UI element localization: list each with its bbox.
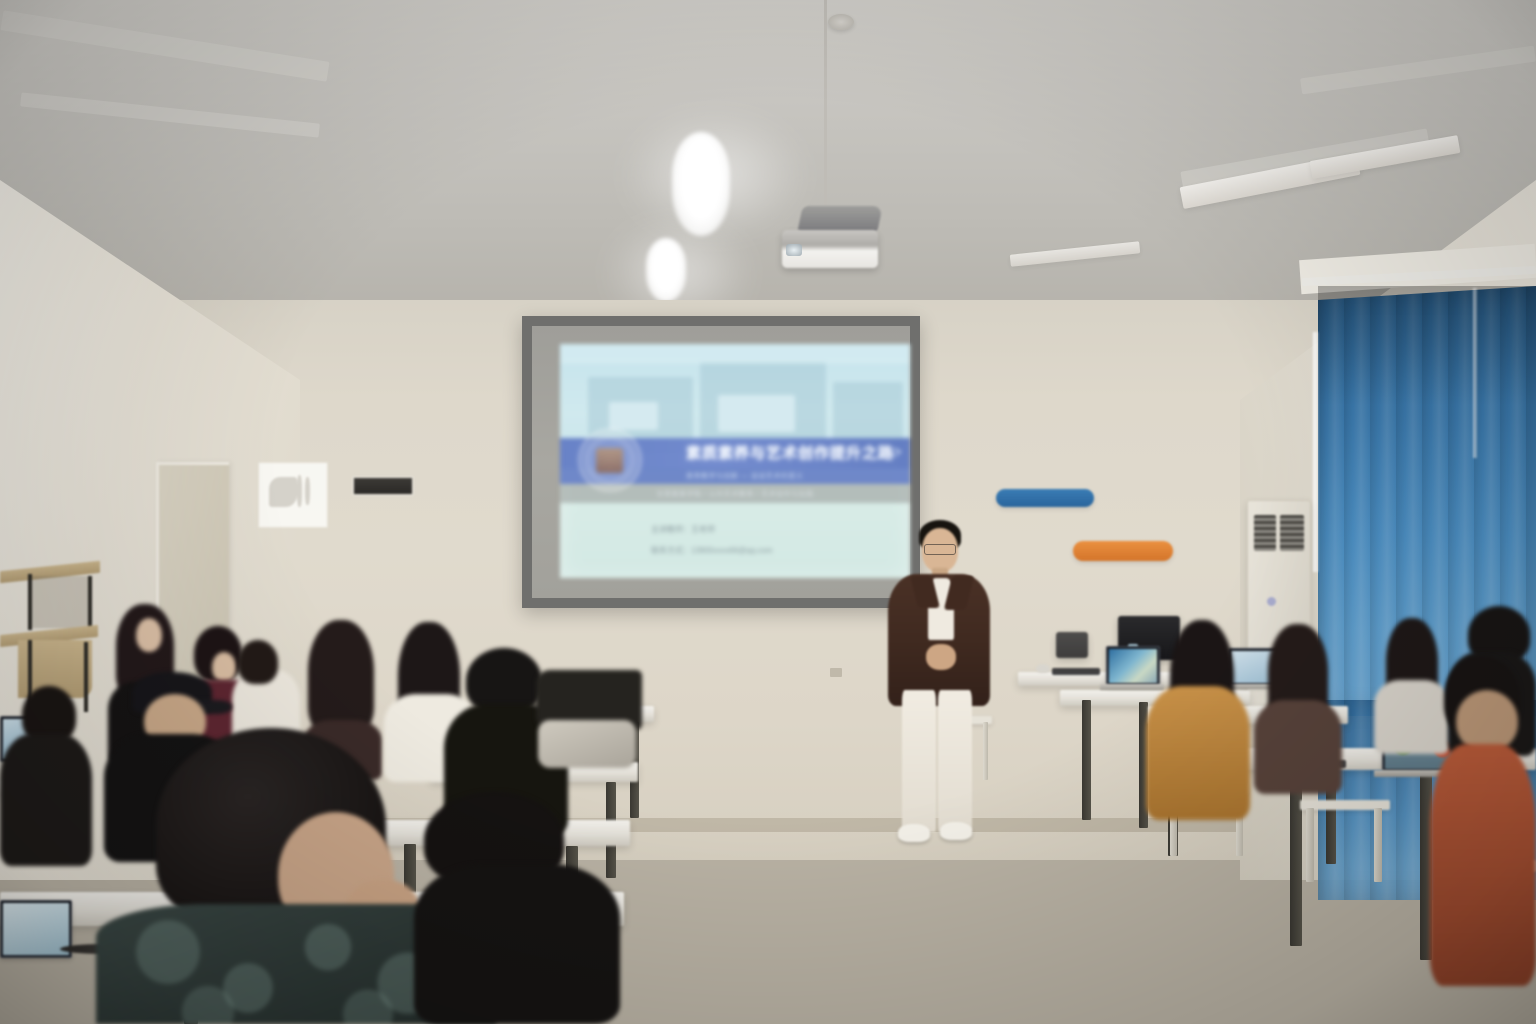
student-torso (0, 734, 92, 866)
standing-presenter (870, 512, 1010, 862)
university-emblem (578, 428, 642, 492)
projector-lens-icon (786, 244, 802, 256)
wall-mounted-dark-panel (352, 476, 414, 496)
slide-subtitle: 美育教学与创新 — 谈谈艺术的意义 (686, 471, 803, 481)
slide-contact-line: 联系方式：13900xxxx66@qq.com (651, 545, 773, 556)
classroom-photo: 素质素养与艺术创作提升之路 ⟳ 美育教学与创新 — 谈谈艺术的意义 甘肃某某学院… (0, 0, 1536, 1024)
student-mustard-jacket (1146, 620, 1252, 820)
projector-mount-rod (824, 0, 827, 212)
slide-building-highlight (718, 395, 795, 433)
wall-poster (258, 462, 328, 528)
presenter-pants-left (902, 690, 936, 832)
laptop-foreground-left-content (3, 903, 69, 955)
student-head-back (1456, 690, 1518, 752)
emblem-center-icon (596, 448, 623, 473)
student-torso (1146, 686, 1250, 820)
student-dark-foreground-right (414, 792, 624, 1024)
student-hair (238, 640, 278, 684)
orange-pill-decor (1073, 541, 1173, 561)
student-left-edge (0, 686, 92, 866)
jacket-on-desk (538, 720, 636, 768)
blue-pill-decor (996, 489, 1094, 507)
mouse[interactable] (1036, 664, 1050, 673)
keyboard[interactable] (1052, 668, 1100, 675)
student-orange-shirt (1430, 656, 1536, 986)
poster-graphic-icon-3 (305, 477, 310, 505)
presenter-hands (926, 644, 956, 670)
presenter-shoe-right (940, 822, 972, 840)
shelf-post-left (28, 574, 32, 630)
curtain-light-gap-2 (1473, 288, 1477, 458)
poster-graphic-icon-2 (297, 475, 302, 507)
student-torso (1430, 744, 1536, 986)
curtain-light-gap (1313, 332, 1318, 572)
ac-logo-icon (1267, 597, 1276, 606)
stool-right-2-leg-b (1374, 808, 1382, 882)
stool-right-2-leg-a (1306, 808, 1314, 882)
shelf-back-panel (30, 576, 92, 628)
presenter-glasses-icon (924, 544, 956, 555)
ac-vent-left-icon (1254, 515, 1276, 551)
refresh-icon: ⟳ (891, 445, 902, 461)
curtain-top-shadow (1318, 286, 1536, 406)
presenter-shoe-left (898, 824, 930, 842)
projector-bracket (797, 206, 883, 232)
ceiling-light-rear (646, 238, 686, 302)
slide-presenter-line: 主讲教师：王老师 (651, 524, 715, 535)
slide-building-highlight-2 (609, 402, 658, 430)
student-dark-right (1254, 624, 1344, 794)
desk-leg-right-back-1 (1082, 700, 1091, 820)
slide-sky-band (560, 344, 910, 364)
wall-outlet-icon (830, 668, 842, 677)
desktop-monitor-2 (1056, 632, 1088, 658)
student-hair (308, 620, 374, 732)
ac-vent-right-icon (1280, 515, 1304, 551)
poster-graphic-icon (269, 477, 297, 507)
student-face (136, 618, 162, 652)
student-torso (414, 864, 620, 1024)
slide-title: 素质素养与艺术创作提升之路 (686, 442, 894, 463)
presentation-slide: 素质素养与艺术创作提升之路 ⟳ 美育教学与创新 — 谈谈艺术的意义 甘肃某某学院… (560, 344, 910, 578)
student-torso (1254, 700, 1342, 794)
smoke-detector-icon (828, 14, 854, 30)
presenter-pants-right (938, 690, 972, 832)
